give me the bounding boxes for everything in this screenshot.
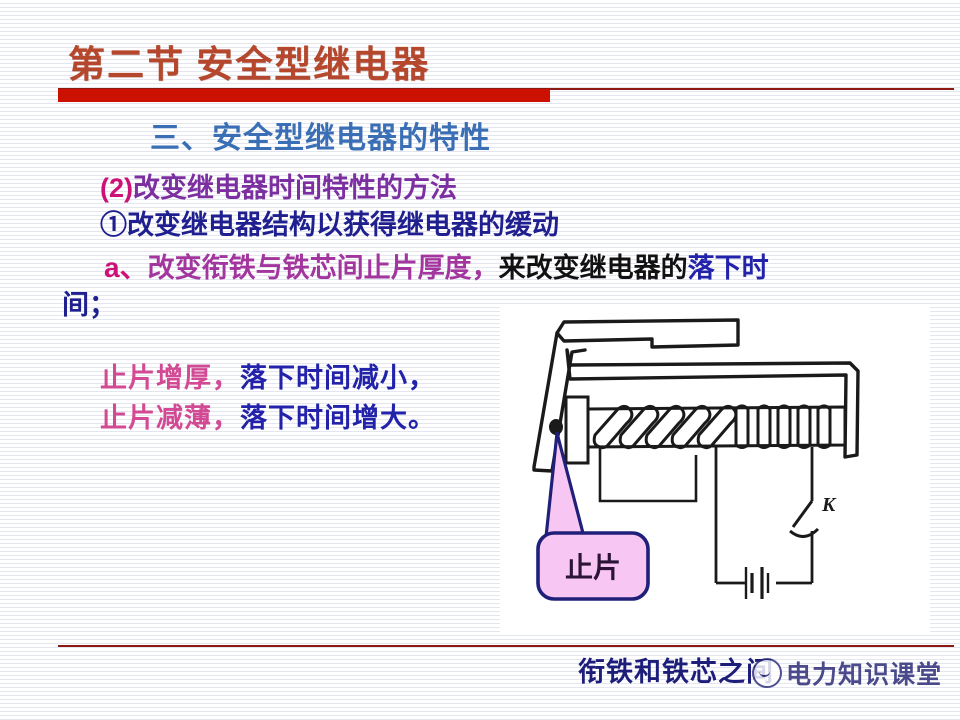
switch-k-symbol	[790, 501, 818, 537]
switch-label-k: K	[821, 494, 837, 516]
title-accent-bar	[58, 89, 550, 102]
body-line-a-continuation: 间；	[62, 283, 116, 322]
relay-diagram-panel: K 止片	[500, 305, 930, 633]
title-block: 第二节 安全型继电器	[0, 34, 960, 106]
footer-caption: 衔铁和铁芯之间	[578, 650, 774, 689]
note-line-1-pink: 止片增厚，	[100, 363, 240, 393]
body-line-a: a、改变衔铁与铁芯间止片厚度，来改变继电器的落下时	[104, 246, 769, 286]
switch-blade	[793, 501, 812, 527]
switch-arc	[790, 529, 818, 537]
line-a-black-text: 来改变继电器的	[499, 253, 688, 283]
section-subtitle: 三、安全型继电器的特性	[150, 113, 491, 157]
lower-left-frame	[600, 447, 696, 501]
list-marker-a: a、	[104, 252, 148, 283]
body-line-numbered-2: (2)改变继电器时间特性的方法	[100, 166, 457, 205]
watermark: 电力知识课堂	[752, 655, 942, 691]
coil-windings	[594, 406, 830, 448]
note-line-2: 止片减薄，落下时间增大。	[100, 398, 500, 438]
line-a-blue-text: 落下时	[688, 253, 769, 283]
note-line-1: 止片增厚，落下时间减小，	[100, 358, 500, 398]
core-stop-block	[566, 397, 588, 463]
list-text-circled-1: ①改变继电器结构以获得继电器的缓动	[100, 210, 559, 240]
slide-canvas: 第二节 安全型继电器 三、安全型继电器的特性 (2)改变继电器时间特性的方法 ①…	[0, 0, 960, 720]
note-block: 止片增厚，落下时间减小， 止片减薄，落下时间增大。	[100, 358, 500, 438]
body-line-circled-1: ①改变继电器结构以获得继电器的缓动	[100, 203, 559, 242]
relay-diagram-svg: K 止片	[500, 305, 930, 633]
watermark-logo-icon	[752, 658, 782, 688]
line-a-violet-text: 改变衔铁与铁芯间止片厚度，	[148, 253, 499, 283]
list-marker-2: (2)	[100, 173, 133, 203]
callout-label: 止片	[565, 552, 621, 584]
core-block-rect	[566, 397, 588, 463]
list-text-2: 改变继电器时间特性的方法	[133, 173, 457, 203]
battery-symbol	[746, 567, 768, 599]
note-line-2-blue: 落下时间增大。	[240, 403, 436, 433]
watermark-label: 电力知识课堂	[786, 655, 942, 691]
lower-left-frame-path	[600, 447, 696, 501]
footer-divider	[58, 645, 954, 647]
page-title: 第二节 安全型继电器	[68, 34, 430, 88]
contact-blade-upper	[557, 320, 738, 347]
note-line-1-blue: 落下时间减小，	[240, 363, 436, 393]
note-line-2-pink: 止片减薄，	[100, 403, 240, 433]
circuit-loop	[716, 447, 812, 583]
line-a-continuation-text: 间；	[62, 290, 116, 320]
